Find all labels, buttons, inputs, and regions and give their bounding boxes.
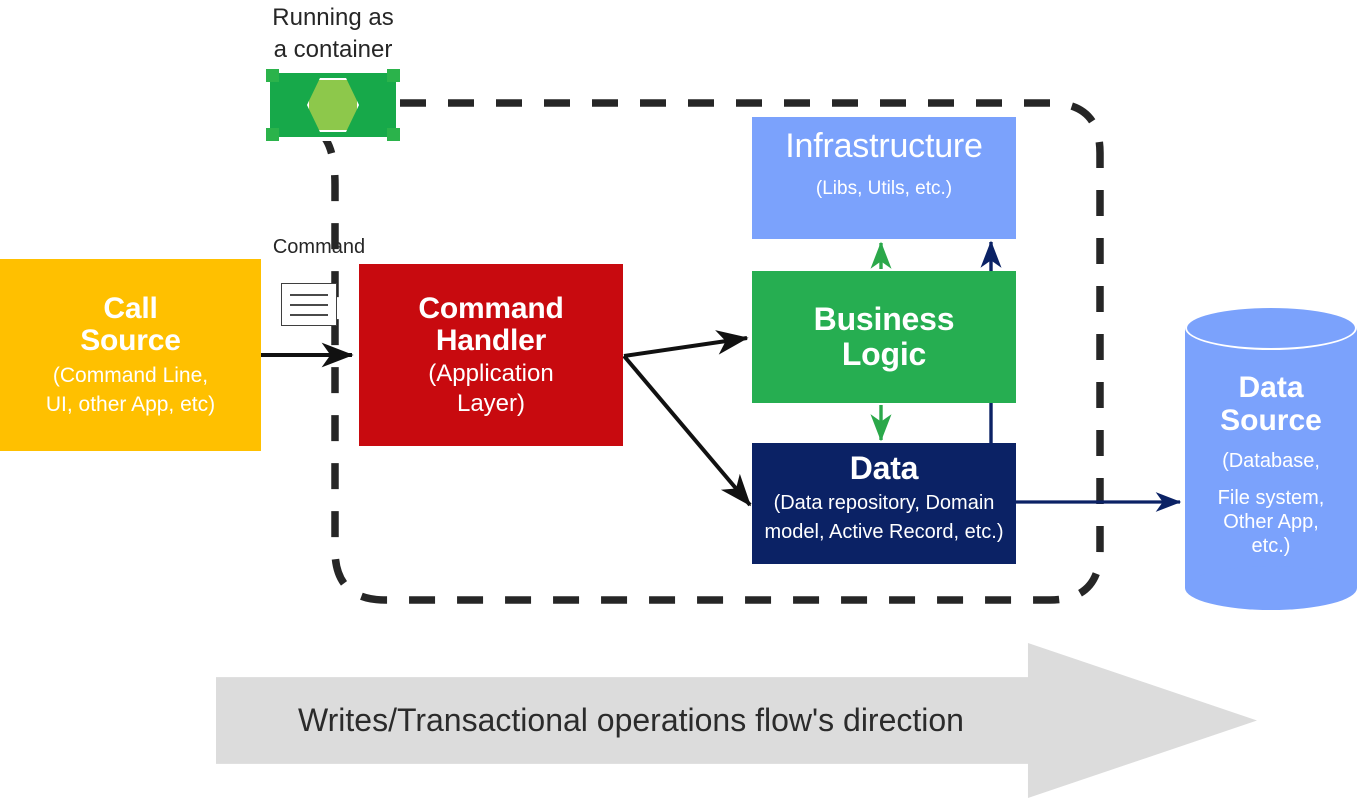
call-source-subtitle-line2: UI, other App, etc): [46, 394, 215, 417]
data-source-title-line2: Source: [1220, 404, 1322, 437]
infrastructure-title: Infrastructure: [785, 128, 983, 165]
data-title: Data: [850, 451, 919, 486]
infrastructure-subtitle: (Libs, Utils, etc.): [816, 179, 952, 200]
data-subtitle-line2: model, Active Record, etc.): [765, 521, 1004, 545]
container-icon-corner-bottom-right: [387, 128, 400, 141]
diagram-canvas: Running as a container Command Call Sour…: [0, 0, 1364, 804]
data-subtitle-line1: (Data repository, Domain: [774, 492, 995, 516]
node-data-source: Data Source (Database, File system, Othe…: [1185, 306, 1357, 610]
node-infrastructure: Infrastructure (Libs, Utils, etc.): [752, 117, 1016, 239]
running-as-container-line1: Running as: [226, 2, 440, 34]
business-logic-title-line1: Business: [814, 302, 955, 337]
call-source-title-line1: Call: [103, 293, 157, 325]
container-icon: [266, 69, 400, 141]
command-document-icon-line-3: [290, 314, 328, 316]
flow-direction-label: Writes/Transactional operations flow's d…: [216, 643, 1046, 798]
data-source-subtitle-line3: Other App,: [1223, 510, 1319, 534]
node-data: Data (Data repository, Domain model, Act…: [752, 443, 1016, 564]
database-cylinder-icon-top: [1185, 306, 1357, 350]
data-source-subtitle-line1: (Database,: [1222, 449, 1320, 473]
arrow-command-handler-to-business-logic: [624, 338, 747, 356]
data-source-text: Data Source (Database, File system, Othe…: [1185, 350, 1357, 580]
call-source-subtitle-line1: (Command Line,: [53, 365, 208, 388]
command-label: Command: [244, 236, 394, 259]
call-source-title-line2: Source: [80, 325, 181, 357]
command-document-icon-line-1: [290, 294, 328, 296]
running-as-container-line2: a container: [226, 34, 440, 66]
command-document-icon: [281, 283, 337, 326]
data-source-subtitle-line4: etc.): [1252, 534, 1291, 558]
node-command-handler: Command Handler (Application Layer): [359, 264, 623, 446]
container-icon-corner-top-right: [387, 69, 400, 82]
command-handler-subtitle-line2: Layer): [457, 391, 525, 417]
container-icon-corner-bottom-left: [266, 128, 279, 141]
flow-direction-banner: Writes/Transactional operations flow's d…: [216, 643, 1257, 798]
command-handler-subtitle-line1: (Application: [428, 361, 553, 387]
command-handler-title-line1: Command: [418, 293, 563, 325]
data-source-subtitle-line2: File system,: [1218, 486, 1325, 510]
running-as-container-label: Running as a container: [226, 2, 440, 65]
data-source-title-line1: Data: [1238, 371, 1303, 404]
command-document-icon-line-2: [290, 304, 328, 306]
command-handler-title-line2: Handler: [436, 325, 546, 357]
node-call-source: Call Source (Command Line, UI, other App…: [0, 259, 261, 451]
node-business-logic: Business Logic: [752, 271, 1016, 403]
container-icon-corner-top-left: [266, 69, 279, 82]
arrow-command-handler-to-data: [624, 356, 750, 505]
business-logic-title-line2: Logic: [842, 337, 926, 372]
